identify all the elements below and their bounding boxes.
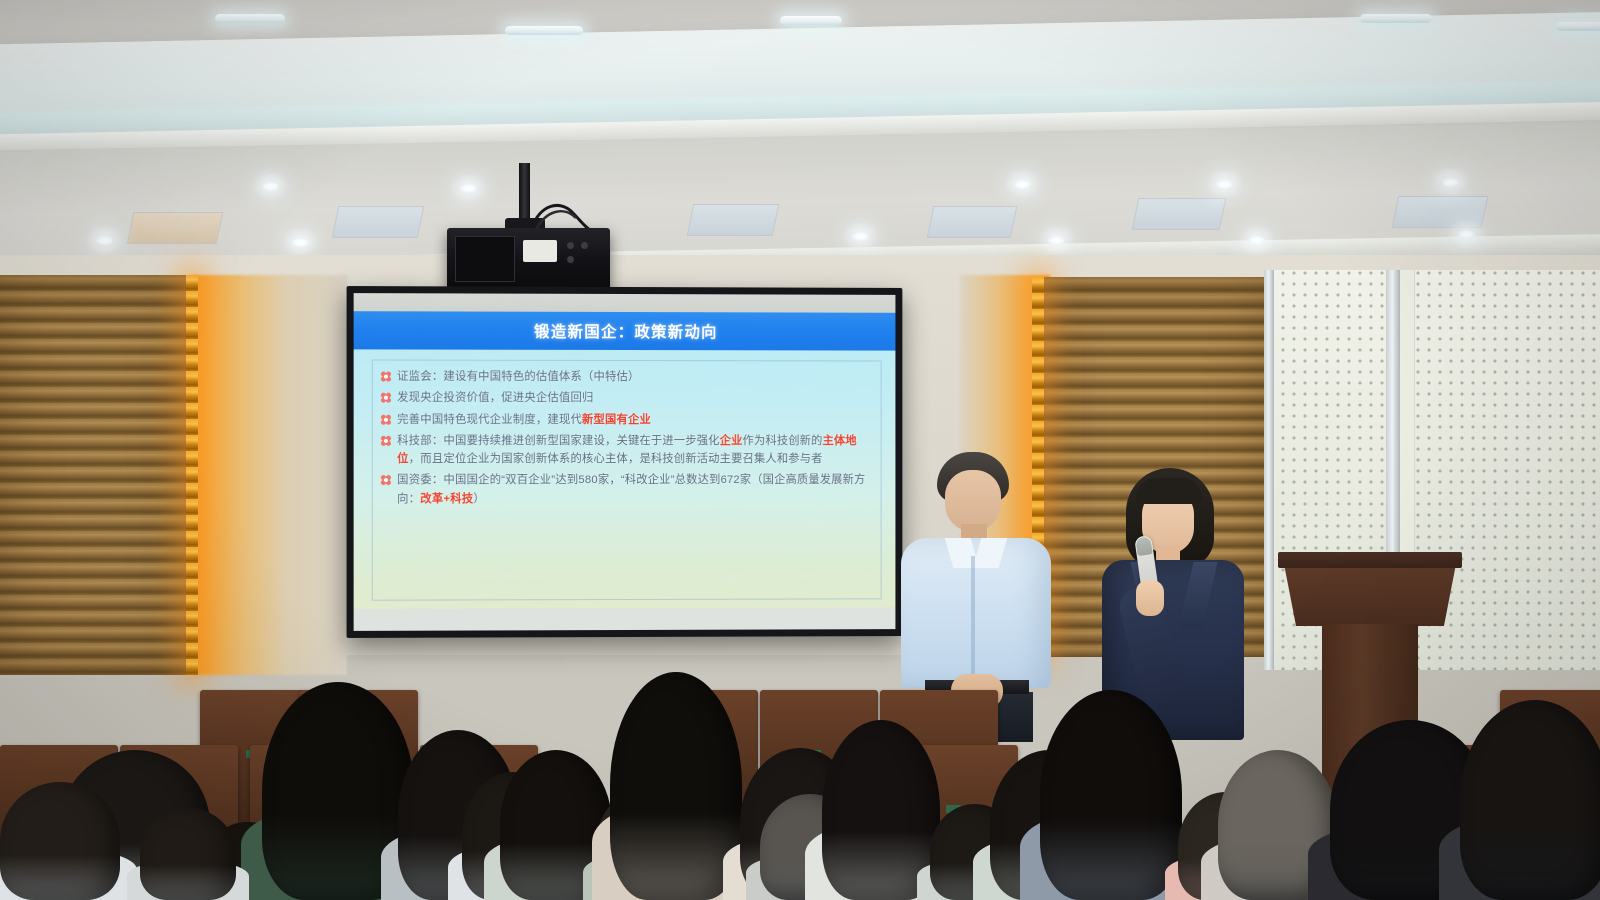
- ceiling-downlight: [1014, 180, 1031, 189]
- audience-member: [140, 808, 236, 900]
- slide-bullet-text: 发现央企投资价值，促进央企估值回归: [397, 389, 593, 408]
- highlighted-text: 改革+科技: [420, 493, 473, 505]
- slide-title-text: 锻造新国企：政策新动向: [534, 320, 718, 342]
- ceiling-downlight: [1248, 236, 1265, 245]
- projection-screen: 锻造新国企：政策新动向 证监会：建设有中国特色的估值体系（中特估）发现央企投资价…: [347, 286, 903, 638]
- ceiling-downlight: [262, 182, 279, 191]
- bullet-text-segment: ，而且定位企业为国家创新体系的核心主体，是科技创新活动主要召集人和参与者: [409, 453, 823, 465]
- slide-bullet-text: 完善中国特色现代企业制度，建现代新型国有企业: [397, 410, 651, 429]
- audience-member: [0, 782, 120, 900]
- flower-bullet-icon: [381, 436, 391, 446]
- linear-ceiling-light: [1556, 22, 1600, 31]
- projector-mount-pole: [519, 163, 530, 225]
- slide-bullet-list: 证监会：建设有中国特色的估值体系（中特估）发现央企投资价值，促进央企估值回归完善…: [372, 359, 882, 600]
- slide-bullet-item: 证监会：建设有中国特色的估值体系（中特估）: [381, 368, 875, 387]
- ceiling-downlight: [852, 232, 869, 241]
- projector: [447, 228, 610, 290]
- flower-bullet-icon: [381, 476, 391, 486]
- ceiling-downlight: [292, 238, 309, 247]
- conference-room-photo: 锻造新国企：政策新动向 证监会：建设有中国特色的估值体系（中特估）发现央企投资价…: [0, 0, 1600, 900]
- shirt-placket: [971, 556, 975, 682]
- linear-ceiling-light: [505, 26, 583, 35]
- flower-bullet-icon: [381, 414, 391, 424]
- highlighted-text: 新型国有企业: [582, 414, 651, 426]
- ceiling-air-vent: [332, 206, 425, 238]
- audience-member-head: [1460, 700, 1600, 900]
- podium-head: [1284, 564, 1456, 626]
- bullet-text-segment: 完善中国特色现代企业制度，建现代: [397, 413, 582, 425]
- ceiling-air-vent: [127, 212, 224, 244]
- audience-member: [1460, 700, 1600, 900]
- ceiling-downlight: [96, 236, 113, 245]
- audience-member-head: [610, 672, 742, 900]
- bullet-text-segment: 证监会：建设有中国特色的估值体系（中特估）: [397, 371, 639, 383]
- slide-bullet-item: 国资委：中国国企的“双百企业”达到580家，“科改企业”总数达到672家（国企高…: [381, 471, 875, 508]
- ceiling-air-vent: [687, 204, 780, 236]
- ceiling-air-vent: [1132, 198, 1227, 230]
- ceiling-downlight: [1216, 180, 1233, 189]
- highlighted-text: 企业: [720, 435, 743, 447]
- projection-screen-surface: 锻造新国企：政策新动向 证监会：建设有中国特色的估值体系（中特估）发现央企投资价…: [354, 293, 896, 631]
- wall-trim-strip: [1264, 270, 1274, 670]
- slide-bullet-text: 证监会：建设有中国特色的估值体系（中特估）: [397, 368, 639, 387]
- audience-member: [1040, 690, 1182, 900]
- linear-ceiling-light: [215, 14, 285, 23]
- presentation-slide: 锻造新国企：政策新动向 证监会：建设有中国特色的估值体系（中特估）发现央企投资价…: [354, 311, 896, 609]
- audience-member: [610, 672, 742, 900]
- linear-ceiling-light: [1360, 14, 1432, 23]
- hand: [1136, 580, 1164, 616]
- podium-top: [1278, 552, 1462, 568]
- slide-bullet-text: 国资委：中国国企的“双百企业”达到580家，“科改企业”总数达到672家（国企高…: [397, 471, 875, 508]
- slat-edge-glow-left: [186, 275, 198, 675]
- audience-member-head: [140, 808, 236, 900]
- slide-bullet-item: 发现央企投资价值，促进央企估值回归: [381, 389, 875, 408]
- ceiling-downlight: [1048, 236, 1065, 245]
- slide-bullet-item: 科技部：中国要持续推进创新型国家建设，关键在于进一步强化企业作为科技创新的主体地…: [381, 432, 875, 469]
- slide-title-bar: 锻造新国企：政策新动向: [354, 311, 896, 350]
- ceiling-downlight: [1442, 178, 1459, 187]
- bullet-text-segment: ）: [473, 493, 485, 505]
- screen-top-strip: [354, 293, 896, 313]
- linear-ceiling-light: [780, 16, 842, 25]
- ceiling-air-vent: [927, 206, 1018, 238]
- hair-fringe: [1136, 478, 1202, 504]
- audience-member-head: [1040, 690, 1182, 900]
- face: [945, 470, 1001, 532]
- bullet-text-segment: 科技部：中国要持续推进创新型国家建设，关键在于进一步强化: [397, 435, 720, 447]
- flower-bullet-icon: [381, 393, 391, 403]
- flower-bullet-icon: [381, 372, 391, 382]
- ceiling-downlight: [460, 184, 477, 193]
- slide-bullet-text: 科技部：中国要持续推进创新型国家建设，关键在于进一步强化企业作为科技创新的主体地…: [397, 432, 875, 469]
- slide-bullet-item: 完善中国特色现代企业制度，建现代新型国有企业: [381, 410, 875, 429]
- ceiling-downlight: [1458, 230, 1475, 239]
- audience-member-head: [0, 782, 120, 900]
- bullet-text-segment: 作为科技创新的: [743, 435, 823, 447]
- bullet-text-segment: 发现央企投资价值，促进央企估值回归: [397, 392, 593, 404]
- accent-glow-wall-left: [192, 275, 347, 675]
- wood-slat-wall-left: [0, 275, 192, 675]
